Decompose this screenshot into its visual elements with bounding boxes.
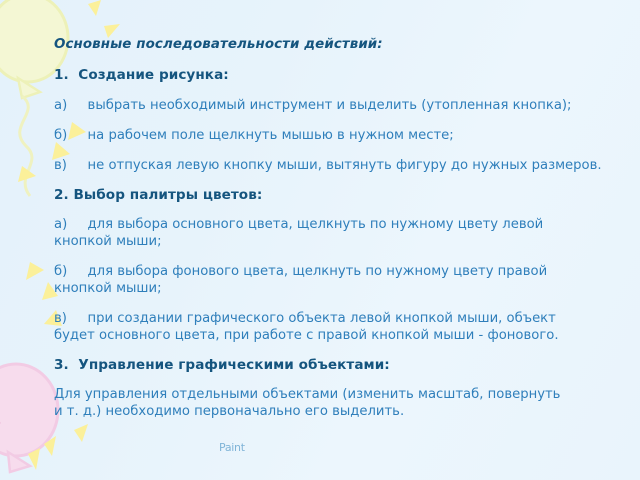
section-2-item-a: а) для выбора основного цвета, щелкнуть … bbox=[54, 216, 610, 250]
slide-body: Основные последовательности действий: 1.… bbox=[54, 36, 610, 420]
section-1-item-c: в) не отпуская левую кнопку мыши, вытяну… bbox=[54, 157, 610, 174]
balloon-pink-icon bbox=[0, 364, 58, 472]
section-3-paragraph: Для управления отдельными объектами (изм… bbox=[54, 386, 610, 420]
page-title: Основные последовательности действий: bbox=[54, 36, 610, 53]
paint-watermark: Paint bbox=[219, 441, 245, 454]
presentation-slide: Основные последовательности действий: 1.… bbox=[0, 0, 640, 480]
section-heading-1: 1. Создание рисунка: bbox=[54, 67, 610, 84]
section-heading-3: 3. Управление графическими объектами: bbox=[54, 357, 610, 374]
section-heading-2: 2. Выбор палитры цветов: bbox=[54, 187, 610, 204]
section-2-item-c: в) при создании графического объекта лев… bbox=[54, 310, 610, 344]
section-1-item-b: б) на рабочем поле щелкнуть мышью в нужн… bbox=[54, 127, 610, 144]
section-1-item-a: а) выбрать необходимый инструмент и выде… bbox=[54, 97, 610, 114]
section-2-item-b: б) для выбора фонового цвета, щелкнуть п… bbox=[54, 263, 610, 297]
